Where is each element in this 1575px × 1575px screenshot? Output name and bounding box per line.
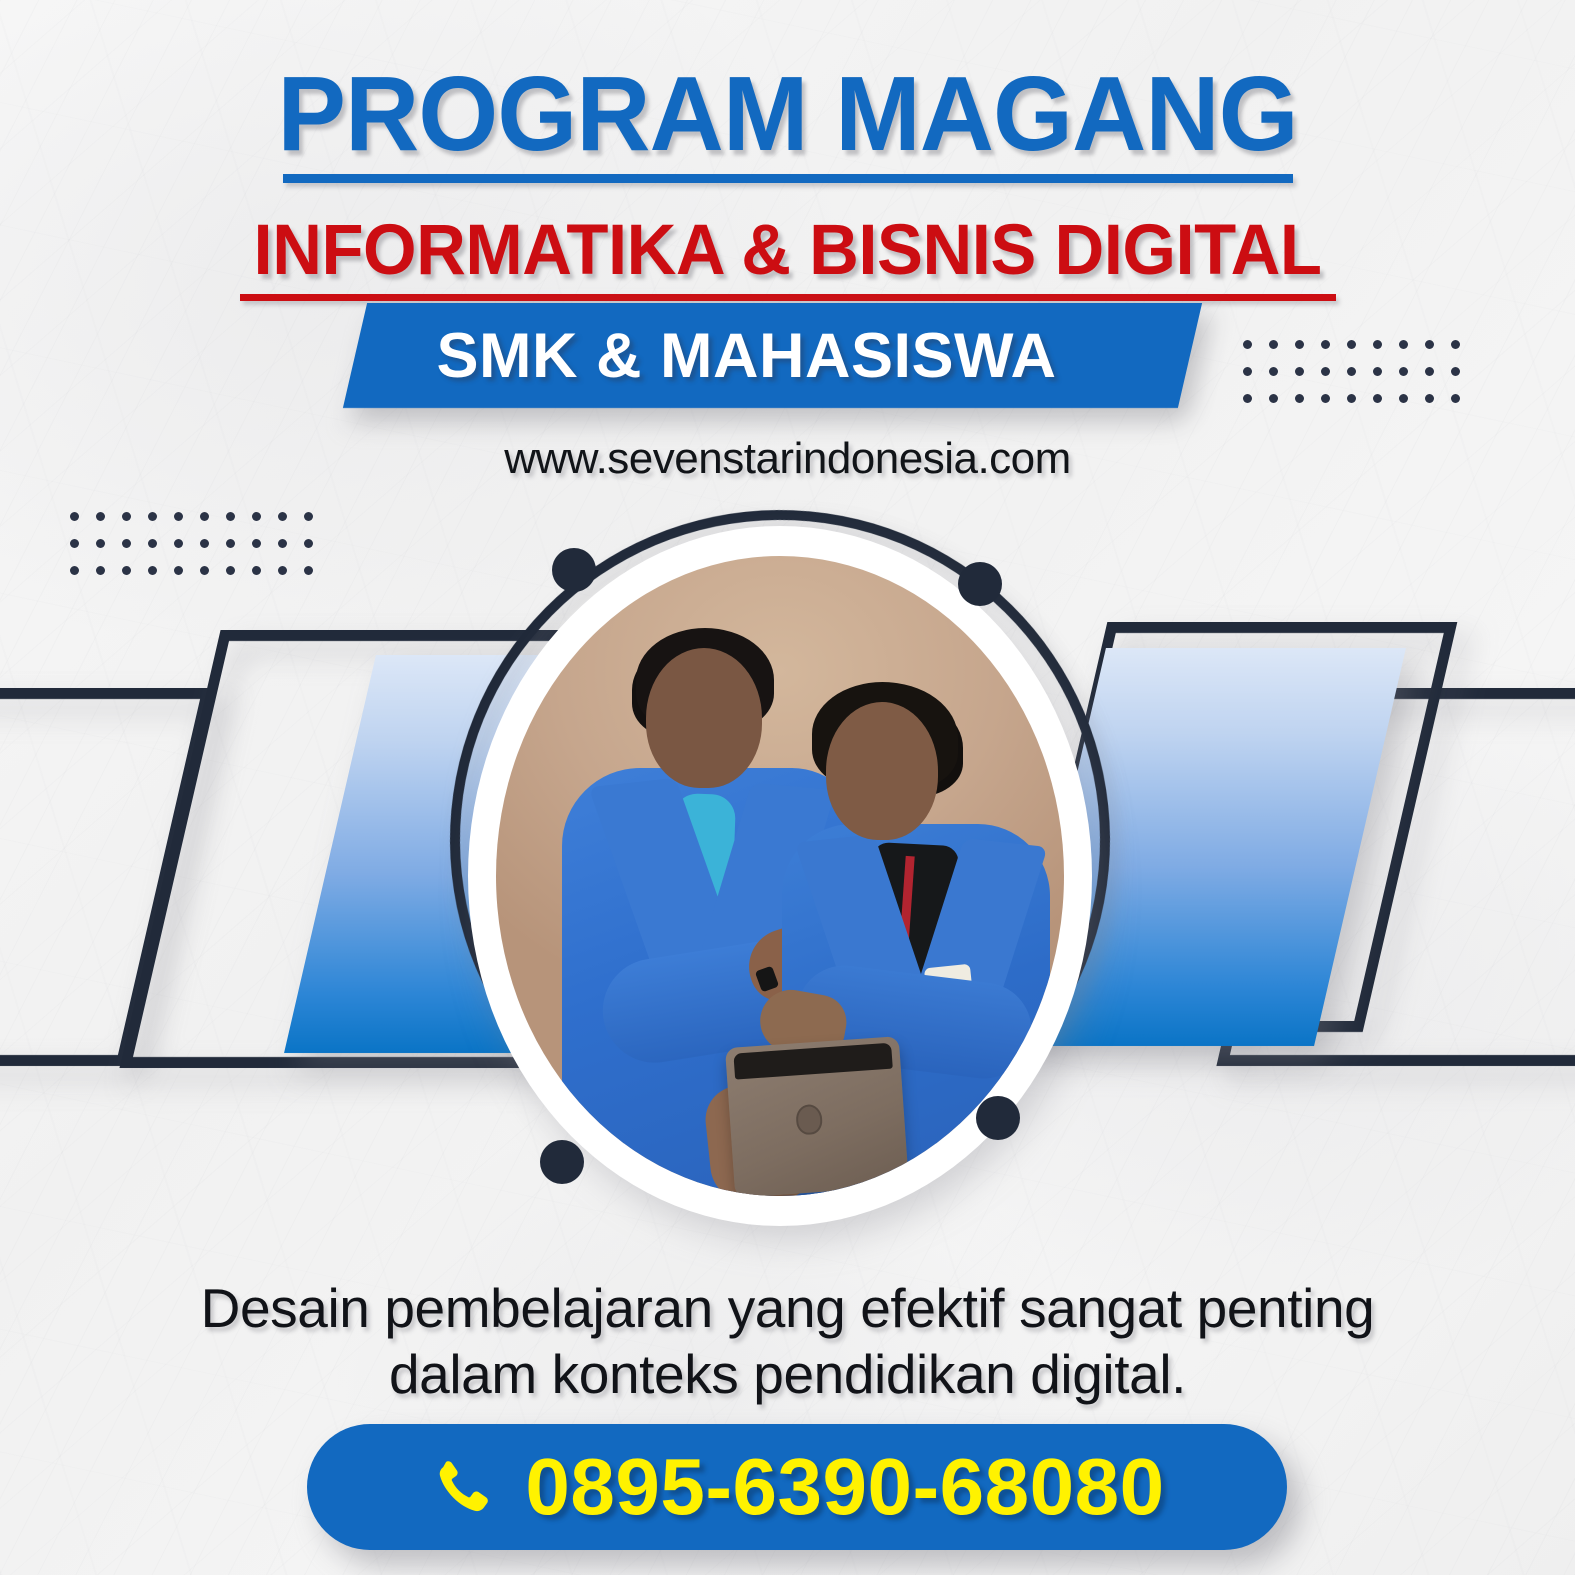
parallelogram-outline-left-outer: [0, 688, 214, 1066]
dot: [1295, 340, 1304, 349]
dot: [1373, 394, 1382, 403]
dot-grid-right: [1243, 340, 1477, 421]
dot: [122, 539, 131, 548]
parallelogram-outline-right-outer: [1216, 688, 1575, 1066]
tagline-line-1: Desain pembelajaran yang efektif sangat …: [130, 1275, 1445, 1341]
page-title-sub: INFORMATIKA & BISNIS DIGITAL: [24, 213, 1552, 288]
dot: [96, 566, 105, 575]
dot: [252, 539, 261, 548]
ring-dot-top-left: [552, 548, 596, 592]
title-underline-blue: [283, 174, 1293, 183]
dot: [1347, 367, 1356, 376]
dot: [148, 566, 157, 575]
dot: [1243, 367, 1252, 376]
dot: [1425, 340, 1434, 349]
audience-banner: SMK & MAHASISWA: [355, 303, 1190, 408]
phone-cta-button[interactable]: 0895-6390-68080: [307, 1424, 1287, 1550]
dot: [1243, 340, 1252, 349]
dot: [304, 539, 313, 548]
dot: [122, 566, 131, 575]
dot: [174, 512, 183, 521]
apple-logo-icon: [795, 1104, 823, 1136]
ring-dot-bottom-right: [976, 1096, 1020, 1140]
dot: [226, 539, 235, 548]
student-right-head: [826, 702, 938, 840]
dot: [96, 539, 105, 548]
dot: [1295, 367, 1304, 376]
tablet-device: [725, 1036, 909, 1196]
dot: [200, 566, 209, 575]
dot: [1321, 394, 1330, 403]
dot: [304, 566, 313, 575]
dot: [1373, 367, 1382, 376]
dot: [252, 566, 261, 575]
dot: [1347, 394, 1356, 403]
dot-grid-left: [70, 512, 330, 593]
dot: [1269, 340, 1278, 349]
dot: [148, 539, 157, 548]
dot: [1347, 340, 1356, 349]
tagline-line-2: dalam konteks pendidikan digital.: [130, 1341, 1445, 1407]
photo-circle: [430, 500, 1130, 1260]
title-underline-red: [240, 294, 1336, 301]
students-photo: [496, 556, 1064, 1196]
dot: [1321, 367, 1330, 376]
dot: [1243, 394, 1252, 403]
dot: [200, 539, 209, 548]
dot: [278, 539, 287, 548]
dot: [278, 512, 287, 521]
dot: [70, 512, 79, 521]
dot: [1451, 394, 1460, 403]
dot: [70, 566, 79, 575]
tagline: Desain pembelajaran yang efektif sangat …: [130, 1275, 1445, 1407]
student-left-head: [646, 648, 762, 788]
dot: [1269, 367, 1278, 376]
dot: [1399, 394, 1408, 403]
dot: [1399, 340, 1408, 349]
promotional-poster: PROGRAM MAGANG INFORMATIKA & BISNIS DIGI…: [0, 0, 1575, 1575]
website-url[interactable]: www.sevenstarindonesia.com: [0, 434, 1575, 484]
dot: [1451, 367, 1460, 376]
dot: [1399, 367, 1408, 376]
ring-dot-bottom-left: [540, 1140, 584, 1184]
dot: [1373, 340, 1382, 349]
dot: [252, 512, 261, 521]
dot: [304, 512, 313, 521]
phone-handset-icon: [429, 1456, 491, 1518]
dot: [1295, 394, 1304, 403]
ring-dot-top-right: [958, 562, 1002, 606]
dot: [122, 512, 131, 521]
dot: [174, 566, 183, 575]
dot: [1451, 340, 1460, 349]
dot: [148, 512, 157, 521]
dot: [174, 539, 183, 548]
dot: [278, 566, 287, 575]
phone-number-text: 0895-6390-68080: [525, 1441, 1164, 1533]
dot: [226, 566, 235, 575]
dot: [1321, 340, 1330, 349]
heading-block: PROGRAM MAGANG INFORMATIKA & BISNIS DIGI…: [0, 0, 1575, 301]
dot: [200, 512, 209, 521]
dot: [226, 512, 235, 521]
dot: [1425, 367, 1434, 376]
page-title-main: PROGRAM MAGANG: [24, 58, 1552, 170]
banner-label: SMK & MAHASISWA: [355, 303, 1190, 408]
dot: [96, 512, 105, 521]
dot: [1269, 394, 1278, 403]
dot: [1425, 394, 1434, 403]
dot: [70, 539, 79, 548]
photo-mask: [496, 556, 1064, 1196]
